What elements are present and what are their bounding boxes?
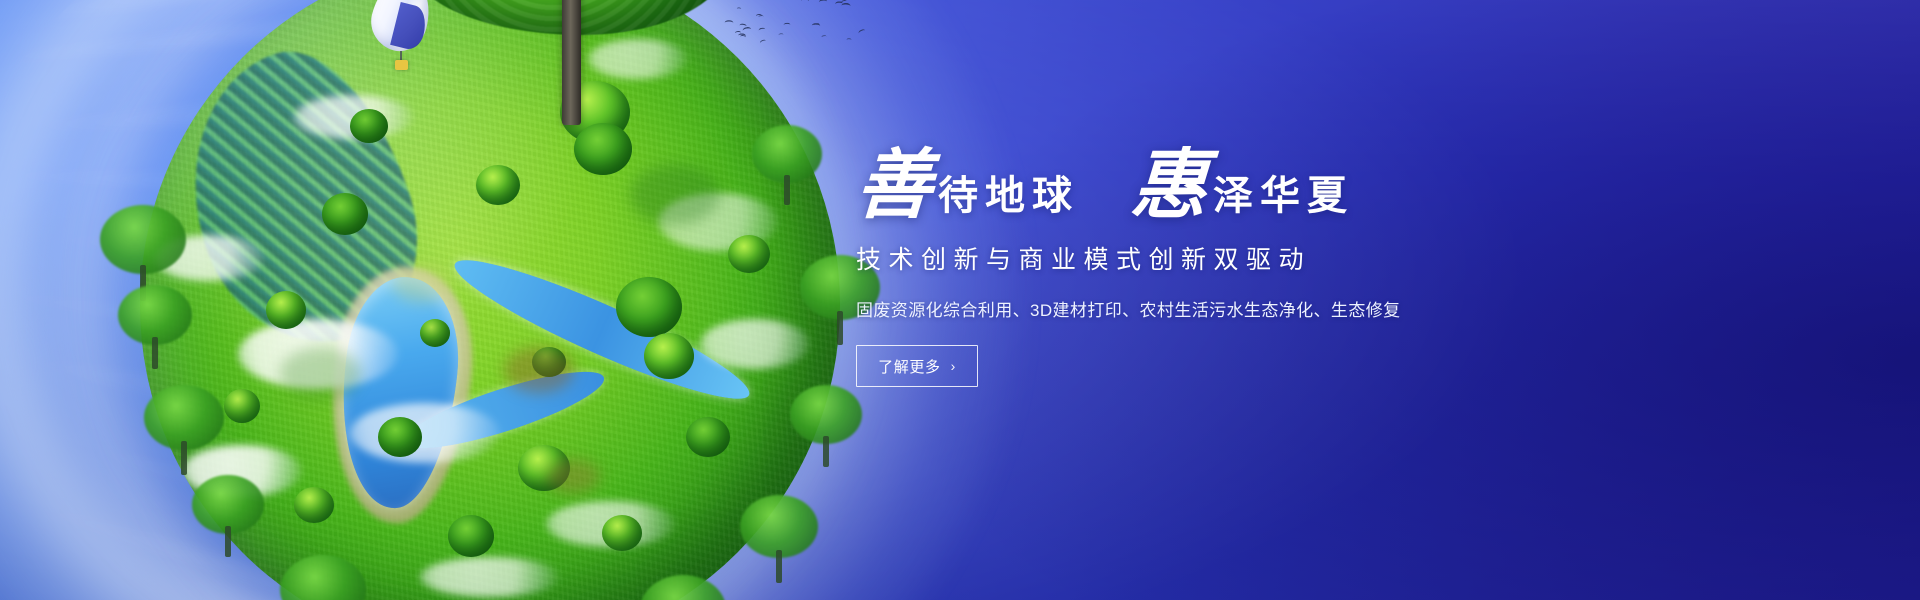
tree-canopy [728, 235, 770, 273]
bird-icon [758, 15, 764, 19]
bird-icon [812, 23, 821, 29]
birds-flock-icon [725, 0, 865, 47]
tree-canopy [574, 123, 632, 175]
rim-tree [752, 125, 822, 205]
terrain-patch [630, 165, 720, 225]
tree-canopy [616, 277, 682, 337]
rim-tree [740, 495, 818, 583]
tree-trunk [837, 311, 843, 345]
tree-canopy [644, 333, 694, 379]
rim-tree [144, 385, 224, 475]
bird-icon [742, 26, 752, 33]
tree-trunk [784, 175, 790, 205]
rim-tree [192, 475, 264, 557]
tree-canopy [420, 319, 450, 347]
cloud [350, 403, 500, 463]
tree-trunk [152, 337, 158, 369]
terrain-patch [546, 459, 600, 493]
chevron-right-icon: › [951, 359, 956, 373]
tree-canopy [448, 515, 494, 557]
tree-canopy [322, 193, 368, 235]
headline-group-2: 惠 泽华夏 [1131, 152, 1354, 222]
banner-copy: 善 待地球 惠 泽华夏 技术创新与商业模式创新双驱动 固废资源化综合利用、3D建… [856, 126, 1556, 387]
tree-trunk [225, 526, 231, 557]
tree-canopy [266, 291, 306, 329]
globe-artwork [140, 0, 840, 600]
bird-icon [842, 3, 852, 10]
bird-icon [725, 20, 734, 26]
bird-icon [737, 8, 742, 11]
hot-air-balloon-icon [373, 0, 429, 82]
terrain-patch [504, 347, 574, 393]
headline-big-2: 惠 [1129, 152, 1209, 222]
bird-icon [858, 28, 866, 35]
tree-canopy [118, 285, 192, 345]
cloud [700, 319, 810, 369]
headline-small-1: 待地球 [938, 176, 1079, 222]
tree-canopy [100, 205, 186, 274]
rim-tree [280, 555, 366, 600]
bird-icon [778, 33, 783, 37]
bird-icon [819, 0, 828, 5]
headline-big-1: 善 [854, 152, 934, 222]
tree-canopy [602, 515, 642, 551]
tree-canopy [350, 109, 388, 143]
bird-icon [759, 39, 766, 45]
bird-icon [784, 0, 792, 3]
cloud [420, 557, 560, 597]
learn-more-button[interactable]: 了解更多 › [856, 345, 978, 387]
bird-icon [801, 0, 809, 4]
tree-canopy [378, 417, 422, 457]
tree-canopy [686, 417, 730, 457]
tree-trunk [181, 441, 187, 475]
tree-trunk [776, 550, 782, 583]
bird-icon [759, 28, 766, 34]
rim-tree [118, 285, 192, 369]
tree-trunk [823, 436, 829, 467]
headline: 善 待地球 惠 泽华夏 [856, 126, 1556, 222]
tree-trunk [562, 0, 581, 125]
bird-icon [821, 34, 827, 38]
balloon-basket [395, 60, 408, 70]
terrain-patch [392, 263, 452, 303]
bird-icon [783, 23, 790, 28]
hero-banner: 善 待地球 惠 泽华夏 技术创新与商业模式创新双驱动 固废资源化综合利用、3D建… [0, 0, 1920, 600]
tree-canopy [476, 165, 520, 205]
rim-tree [640, 575, 726, 600]
headline-small-2: 泽华夏 [1213, 176, 1354, 222]
learn-more-label: 了解更多 [878, 356, 940, 377]
headline-group-1: 善 待地球 [856, 152, 1079, 222]
bird-icon [794, 0, 801, 2]
subtitle: 技术创新与商业模式创新双驱动 [856, 240, 1556, 276]
terrain-patch [280, 347, 360, 401]
tree-canopy [640, 575, 726, 600]
description: 固废资源化综合利用、3D建材打印、农村生活污水生态净化、生态修复 [856, 296, 1556, 321]
tree-canopy [294, 487, 334, 523]
hero-tree [410, 0, 730, 105]
bird-icon [846, 38, 851, 42]
tree-canopy [224, 389, 260, 423]
tree-canopy [280, 555, 366, 600]
rim-tree [790, 385, 862, 467]
tree-canopy [740, 495, 818, 558]
